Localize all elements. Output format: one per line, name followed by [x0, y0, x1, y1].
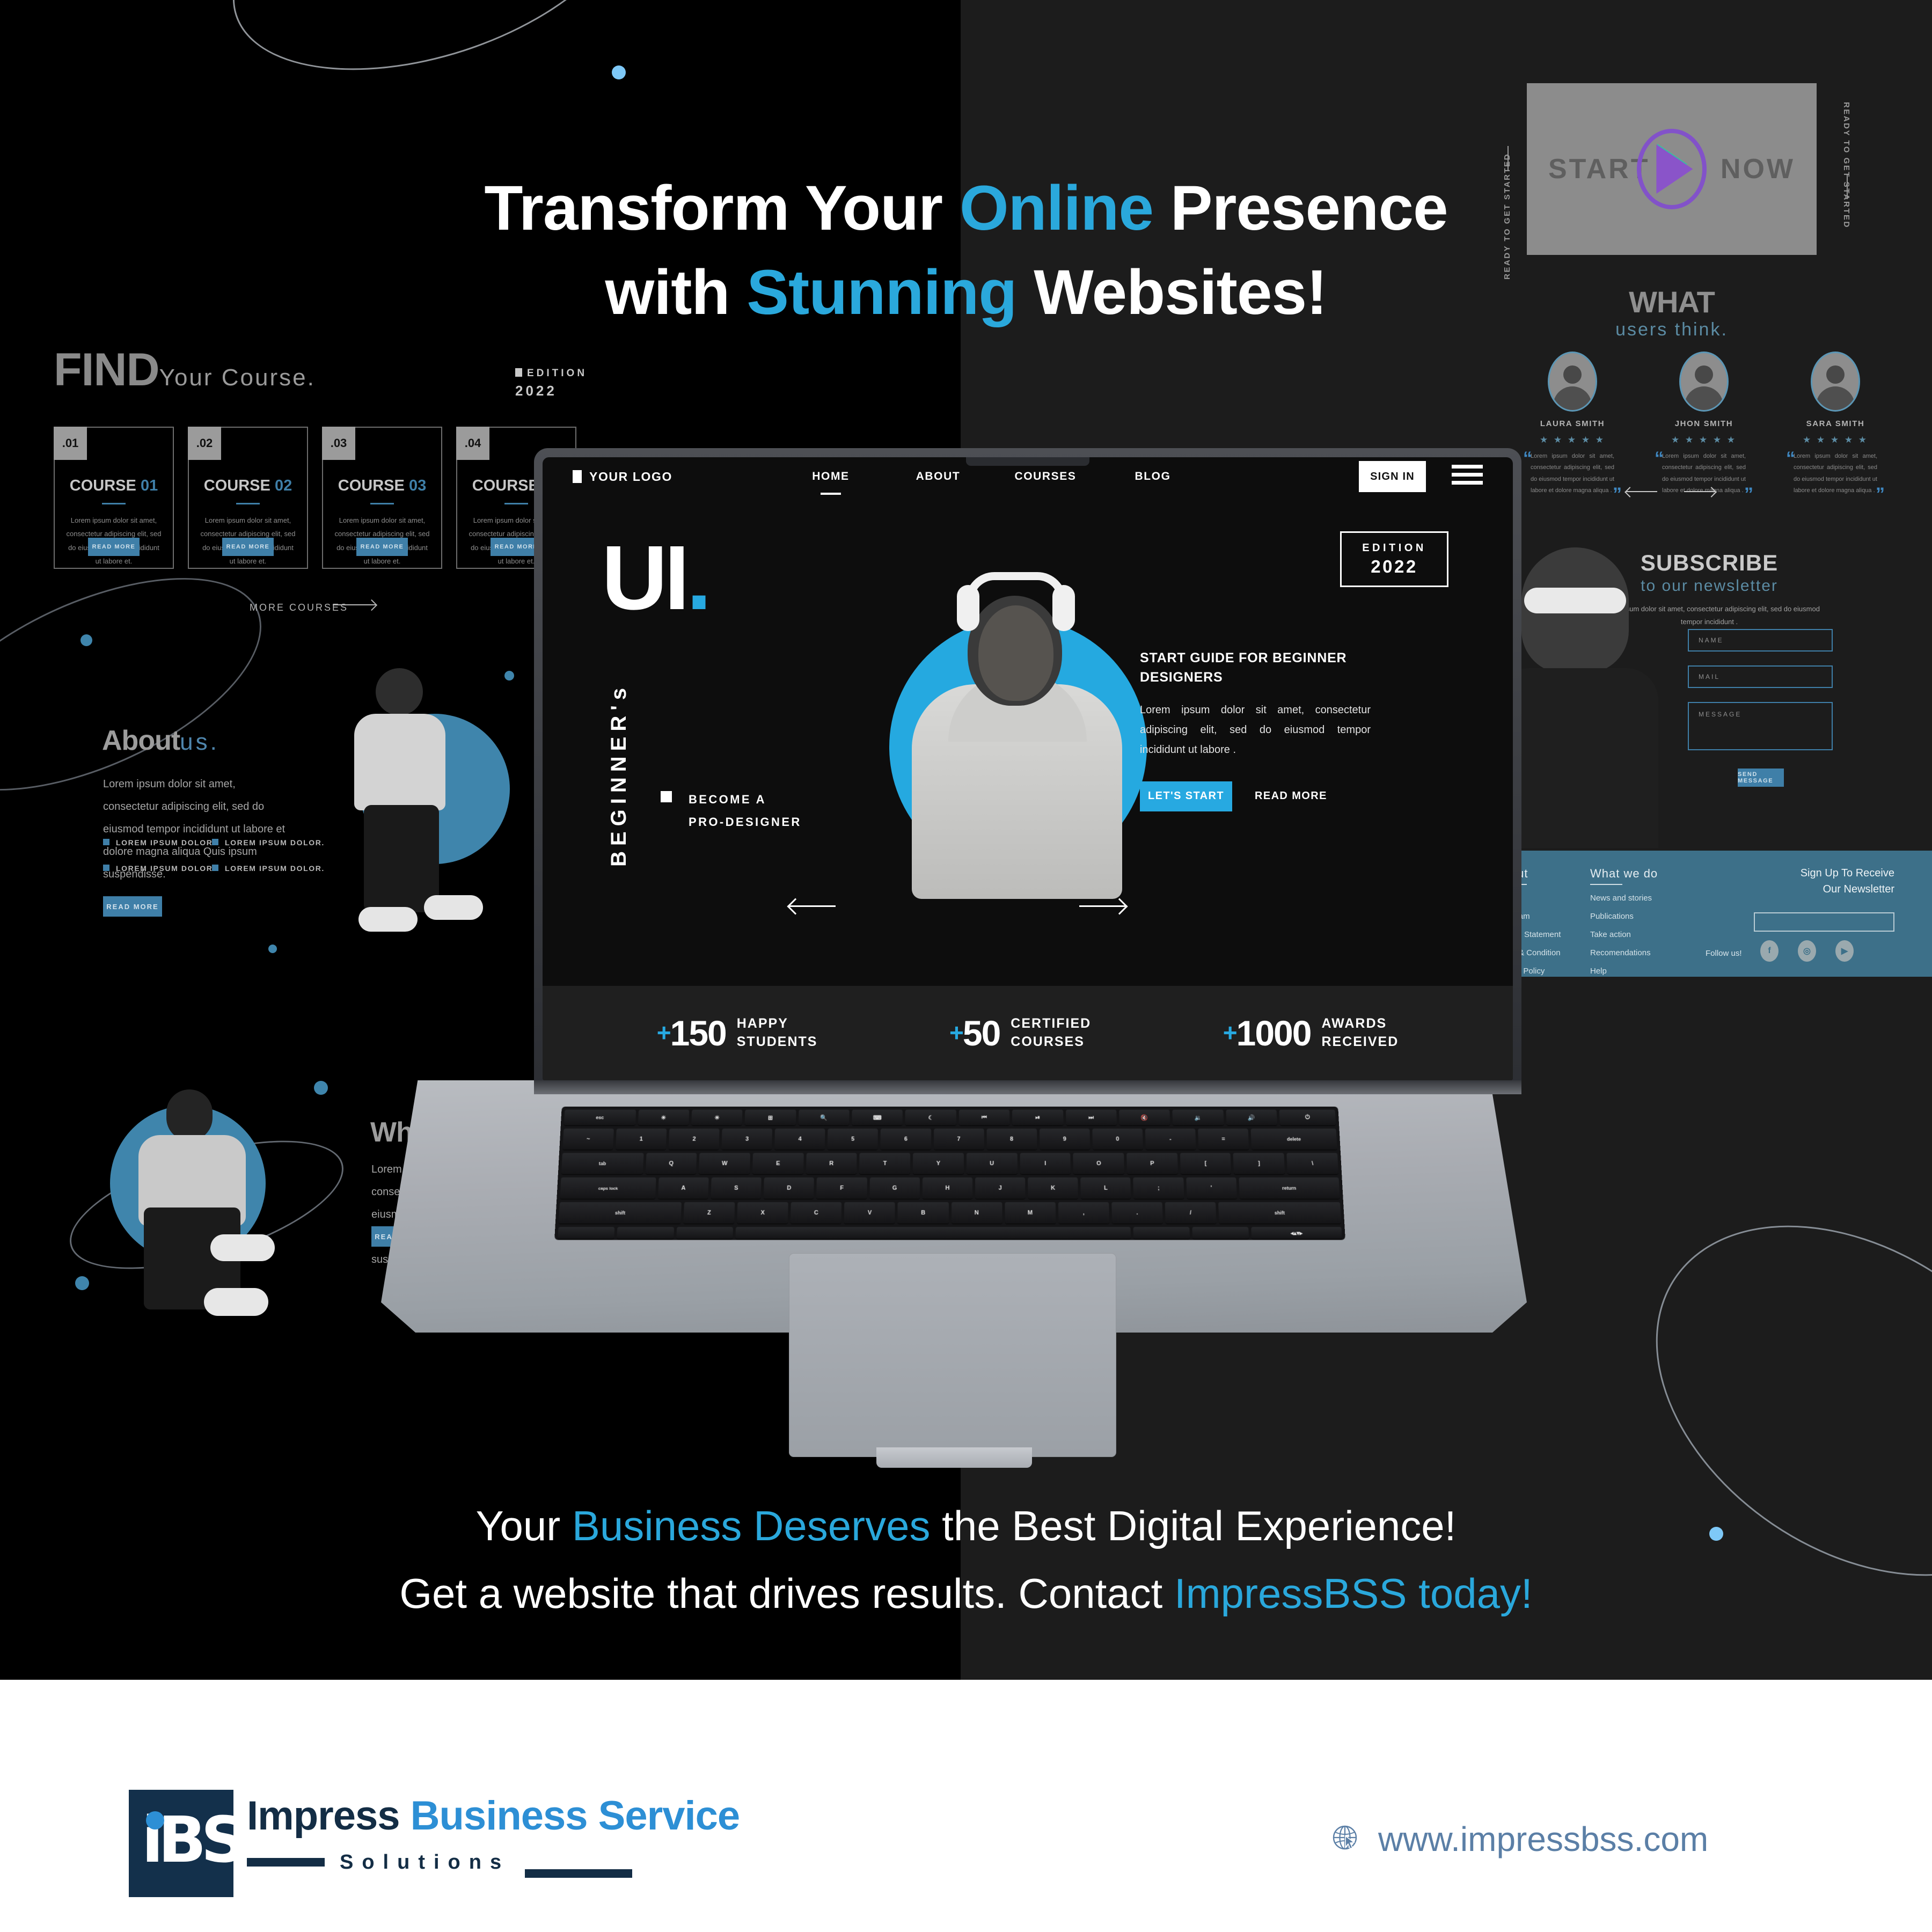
course-card[interactable]: .01 COURSE 01 Lorem ipsum dolor sit amet… [54, 427, 174, 569]
avatar [1548, 352, 1597, 412]
about-bullet-item: LOREM IPSUM DOLOR. [103, 864, 216, 873]
testimonial-card: SARA SMITH ★ ★ ★ ★ ★ “Lorem ipsum dolor … [1787, 352, 1884, 497]
stat-item: +50 CERTIFIEDCOURSES [949, 1015, 1091, 1051]
footer-newsletter-input[interactable] [1754, 912, 1894, 932]
site-nav-links: HOME ABOUT COURSES BLOG [777, 470, 1359, 483]
tagline-line-2: Get a website that drives results. Conta… [0, 1560, 1932, 1627]
bullet-square-icon [212, 865, 218, 871]
brand-tagline-row: Solutions [247, 1847, 740, 1878]
hero-edition-label: EDITION [1362, 542, 1426, 554]
poster-canvas: FINDYour Course. EDITION 2022 .01 COURSE… [0, 0, 1932, 1932]
course-read-more-button[interactable]: READ MORE [222, 538, 274, 556]
course-card-number: .03 [322, 427, 355, 460]
sign-in-button[interactable]: SIGN IN [1359, 461, 1426, 492]
stat-label: HAPPYSTUDENTS [737, 1015, 818, 1051]
edition-square-icon [515, 368, 522, 377]
bullet-square-icon [103, 839, 109, 845]
hero-bullet-line2: PRO-DESIGNER [689, 811, 802, 833]
hero-bullet-line1: BECOME A [689, 788, 802, 811]
testimonial-prev-arrow-icon[interactable] [1626, 491, 1657, 492]
why-person-head [166, 1089, 213, 1141]
about-heading-light: us. [180, 729, 219, 755]
orbit-dot-left-lower [268, 945, 277, 953]
course-card[interactable]: .02 COURSE 02 Lorem ipsum dolor sit amet… [188, 427, 308, 569]
course-card-number: .02 [188, 427, 221, 460]
quote-close-icon: ” [1613, 489, 1622, 500]
laptop-hinge [534, 1080, 1521, 1094]
headphone-left-icon [957, 585, 979, 631]
keyboard-row-home: caps lockASDFGHJKL;'return [560, 1177, 1340, 1199]
logo-i-dot-icon [146, 1811, 164, 1829]
hero-info-panel: START GUIDE FOR BEGINNER DESIGNERS Lorem… [1140, 648, 1371, 811]
footer-newsletter-line2: Our Newsletter [1750, 881, 1894, 897]
why-person-shoe [204, 1288, 268, 1316]
testimonial-name: JHON SMITH [1656, 419, 1752, 428]
laptop-mockup: YOUR LOGO HOME ABOUT COURSES BLOG SIGN I… [381, 448, 1527, 1425]
hero-big-title: UI. [602, 532, 708, 624]
subscribe-subtitle: to our newsletter [1597, 577, 1822, 595]
footer-col-whatwedo-heading: What we do [1590, 867, 1658, 881]
globe-cursor-icon [1331, 1824, 1362, 1855]
course-card-rule [236, 503, 260, 504]
tagline-line-1: Your Business Deserves the Best Digital … [0, 1492, 1932, 1560]
hero-panel-title-line2: DESIGNERS [1140, 668, 1371, 687]
footer-newsletter-heading: Sign Up To Receive Our Newsletter [1750, 865, 1894, 897]
about-bullet-item: LOREM IPSUM DOLOR. [212, 864, 325, 873]
logo-mark: iBSS [129, 1790, 233, 1897]
laptop-keyboard[interactable]: esc☀☀⊞🔍⌨☾⏮⏯⏭🔇🔉🔊⏻ ~1234567890-=delete tab… [554, 1107, 1345, 1240]
hero-panel-title: START GUIDE FOR BEGINNER DESIGNERS [1140, 648, 1371, 687]
footer-link-publications[interactable]: Publications [1590, 912, 1634, 921]
site-logo[interactable]: YOUR LOGO [573, 470, 672, 484]
ready-arrow-up-icon [1847, 174, 1848, 199]
find-course-heading: FINDYour Course. [54, 343, 316, 397]
footer-link-help[interactable]: Help [1590, 967, 1607, 976]
more-courses-arrow-icon [333, 604, 376, 605]
hero-vertical-label: BEGINNER's [607, 683, 631, 867]
stat-plus: + [949, 1019, 963, 1046]
orbit-dot-person-left [75, 1276, 89, 1290]
rating-stars: ★ ★ ★ ★ ★ [1656, 435, 1752, 445]
hero-prev-arrow-icon[interactable] [789, 905, 836, 907]
stat-label: CERTIFIEDCOURSES [1011, 1015, 1091, 1051]
rating-stars: ★ ★ ★ ★ ★ [1787, 435, 1884, 445]
nav-link-courses[interactable]: COURSES [992, 470, 1099, 483]
laptop-screen: YOUR LOGO HOME ABOUT COURSES BLOG SIGN I… [543, 457, 1513, 1080]
hero-panel-buttons: LET'S START READ MORE [1140, 781, 1371, 811]
subscribe-mail-input[interactable]: MAIL [1688, 665, 1833, 688]
laptop-front-lip [876, 1447, 1032, 1468]
stat-number: +50 [949, 1015, 1000, 1051]
course-card-number: .01 [54, 427, 87, 460]
site-logo-text: YOUR LOGO [589, 470, 672, 484]
stat-plus: + [1223, 1019, 1236, 1046]
subscribe-message-input[interactable]: MESSAGE [1688, 702, 1833, 750]
stat-number: +1000 [1223, 1015, 1311, 1051]
hero-bullet-text: BECOME A PRO-DESIGNER [689, 788, 802, 833]
laptop-trackpad[interactable] [789, 1253, 1116, 1457]
about-read-more-button[interactable]: READ MORE [103, 896, 162, 917]
youtube-icon[interactable]: ▶ [1835, 940, 1854, 962]
bullet-square-icon [103, 865, 109, 871]
stat-plus: + [657, 1019, 670, 1046]
about-bullet-item: LOREM IPSUM DOLOR. [103, 838, 216, 847]
tagline-dash-right [525, 1869, 632, 1878]
hero-stats-bar: +150 HAPPYSTUDENTS +50 CERTIFIEDCOURSES … [543, 986, 1513, 1080]
keyboard-row-qwerty: tabQWERTYUIOP[]\ [561, 1153, 1338, 1174]
testimonial-quote: “Lorem ipsum dolor sit amet, consectetur… [1524, 451, 1621, 497]
footer-newsletter-line1: Sign Up To Receive [1750, 865, 1894, 881]
orbit-dot-left-upper [80, 634, 92, 646]
footer-link-news[interactable]: News and stories [1590, 894, 1652, 903]
testimonials-heading-sub: users think. [1527, 319, 1817, 340]
course-card-title: COURSE 02 [189, 477, 307, 495]
about-bullet-item: LOREM IPSUM DOLOR. [212, 838, 325, 847]
tagline-accent-business: Business Deserves [572, 1502, 931, 1549]
hero-next-arrow-icon[interactable] [1079, 905, 1125, 907]
testimonials-heading: WHAT users think. [1527, 284, 1817, 340]
hero-person-photo [897, 558, 1138, 896]
testimonial-card: JHON SMITH ★ ★ ★ ★ ★ “Lorem ipsum dolor … [1656, 352, 1752, 497]
quote-open-icon: “ [1655, 453, 1664, 464]
about-us-heading: Aboutus. [102, 724, 219, 757]
testimonial-next-arrow-icon[interactable] [1684, 491, 1715, 492]
logo-square-icon [573, 470, 582, 483]
nav-link-blog[interactable]: BLOG [1099, 470, 1206, 483]
stat-item: +1000 AWARDSRECEIVED [1223, 1015, 1399, 1051]
course-read-more-button[interactable]: READ MORE [88, 538, 140, 556]
hamburger-menu-icon[interactable] [1452, 465, 1483, 489]
quote-open-icon: “ [1786, 453, 1795, 464]
testimonial-card: LAURA SMITH ★ ★ ★ ★ ★ “Lorem ipsum dolor… [1524, 352, 1621, 497]
hero-edition-year: 2022 [1371, 557, 1417, 577]
right-person-glasses [1524, 588, 1626, 613]
nav-link-home[interactable]: HOME [777, 470, 884, 483]
why-person-shoe [210, 1234, 275, 1261]
find-heading-bold: FIND [54, 344, 159, 396]
rating-stars: ★ ★ ★ ★ ★ [1524, 435, 1621, 445]
brand-name-line: Impress Business Service [247, 1792, 740, 1839]
website-url-block[interactable]: www.impressbss.com [1331, 1819, 1708, 1859]
brand-word-business-service: Business Service [411, 1793, 740, 1839]
brand-tagline-solutions: Solutions [325, 1851, 525, 1874]
site-hero: UI. BEGINNER's BECOME A PRO-DESIGNER [543, 457, 1513, 1080]
play-button-ring-icon[interactable] [1637, 129, 1707, 209]
website-url-text[interactable]: www.impressbss.com [1378, 1819, 1708, 1859]
hero-title-dot: . [686, 527, 708, 629]
tagline-accent-impressbss: ImpressBSS today! [1174, 1570, 1533, 1617]
read-more-link[interactable]: READ MORE [1255, 790, 1327, 802]
footer-follow-label: Follow us! [1706, 949, 1742, 958]
laptop-lid: YOUR LOGO HOME ABOUT COURSES BLOG SIGN I… [534, 448, 1521, 1092]
ready-get-started-label-left: READY TO GET STARTED [1503, 153, 1512, 280]
site-navbar: YOUR LOGO HOME ABOUT COURSES BLOG SIGN I… [543, 457, 1513, 496]
page-tagline: Your Business Deserves the Best Digital … [0, 1492, 1932, 1628]
lets-start-button[interactable]: LET'S START [1140, 781, 1232, 811]
subscribe-heading: SUBSCRIBE to our newsletter Lorem ipsum … [1597, 550, 1822, 628]
bullet-square-icon [212, 839, 218, 845]
tagline-dash-left [247, 1858, 325, 1867]
hero-edition-badge: EDITION 2022 [1340, 531, 1448, 587]
quote-close-icon: ” [1876, 489, 1885, 500]
testimonial-name: SARA SMITH [1787, 419, 1884, 428]
brand-word-impress: Impress [247, 1793, 400, 1839]
subscribe-title: SUBSCRIBE [1597, 550, 1822, 576]
avatar [1811, 352, 1860, 412]
edition-year: 2022 [515, 383, 587, 399]
keyboard-row-numbers: ~1234567890-=delete [562, 1129, 1337, 1150]
testimonial-name: LAURA SMITH [1524, 419, 1621, 428]
hero-panel-title-line1: START GUIDE FOR BEGINNER [1140, 648, 1371, 668]
brand-wordmark: Impress Business Service Solutions [247, 1792, 740, 1878]
testimonial-quote: “Lorem ipsum dolor sit amet, consectetur… [1787, 451, 1884, 497]
hero-panel-body: Lorem ipsum dolor sit amet, consectetur … [1140, 700, 1371, 760]
orbit-dot-top [612, 65, 626, 79]
about-heading-bold: About [102, 725, 180, 756]
find-heading-light: Your Course. [159, 364, 316, 391]
keyboard-row-shift: shiftZXCVBNM,./shift [559, 1202, 1341, 1224]
stat-label: AWARDSRECEIVED [1321, 1015, 1399, 1051]
subscribe-body: Lorem ipsum dolor sit amet, consectetur … [1597, 603, 1822, 628]
ready-get-started-label-right: READY TO GET STARTED [1842, 102, 1851, 229]
start-now-video-card[interactable]: START NOW [1527, 83, 1817, 255]
keyboard-row-function: esc☀☀⊞🔍⌨☾⏮⏯⏭🔇🔉🔊⏻ [564, 1110, 1336, 1125]
subscribe-name-input[interactable]: NAME [1688, 629, 1833, 652]
quote-close-icon: ” [1744, 489, 1753, 500]
video-word-start: START [1548, 153, 1650, 185]
course-card-title: COURSE 01 [55, 477, 173, 495]
ready-arrow-down-icon [1507, 146, 1509, 171]
testimonial-quote: “Lorem ipsum dolor sit amet, consectetur… [1656, 451, 1752, 497]
keyboard-row-space: ◂▴▾▸ [558, 1227, 1342, 1239]
edition-label: EDITION [527, 368, 587, 379]
nav-link-about[interactable]: ABOUT [884, 470, 992, 483]
testimonials-heading-big: WHAT [1527, 284, 1817, 319]
stat-item: +150 HAPPYSTUDENTS [657, 1015, 818, 1051]
footer-link-take-action[interactable]: Take action [1590, 930, 1631, 939]
video-word-now: NOW [1721, 153, 1795, 185]
avatar [1679, 352, 1729, 412]
headphone-right-icon [1052, 585, 1075, 631]
orbit-dot-person-right [314, 1081, 328, 1095]
headphones-band-icon [965, 572, 1066, 601]
instagram-icon[interactable]: ◎ [1798, 940, 1816, 962]
facebook-icon[interactable]: f [1760, 940, 1779, 962]
subscribe-send-button[interactable]: SEND MESSAGE [1738, 769, 1784, 787]
course-card-rule [102, 503, 126, 504]
footer-link-recomendations[interactable]: Recomendations [1590, 948, 1651, 957]
left-edition-badge: EDITION 2022 [515, 368, 587, 399]
stat-number: +150 [657, 1015, 726, 1051]
hero-bullet-square-icon [661, 791, 672, 802]
